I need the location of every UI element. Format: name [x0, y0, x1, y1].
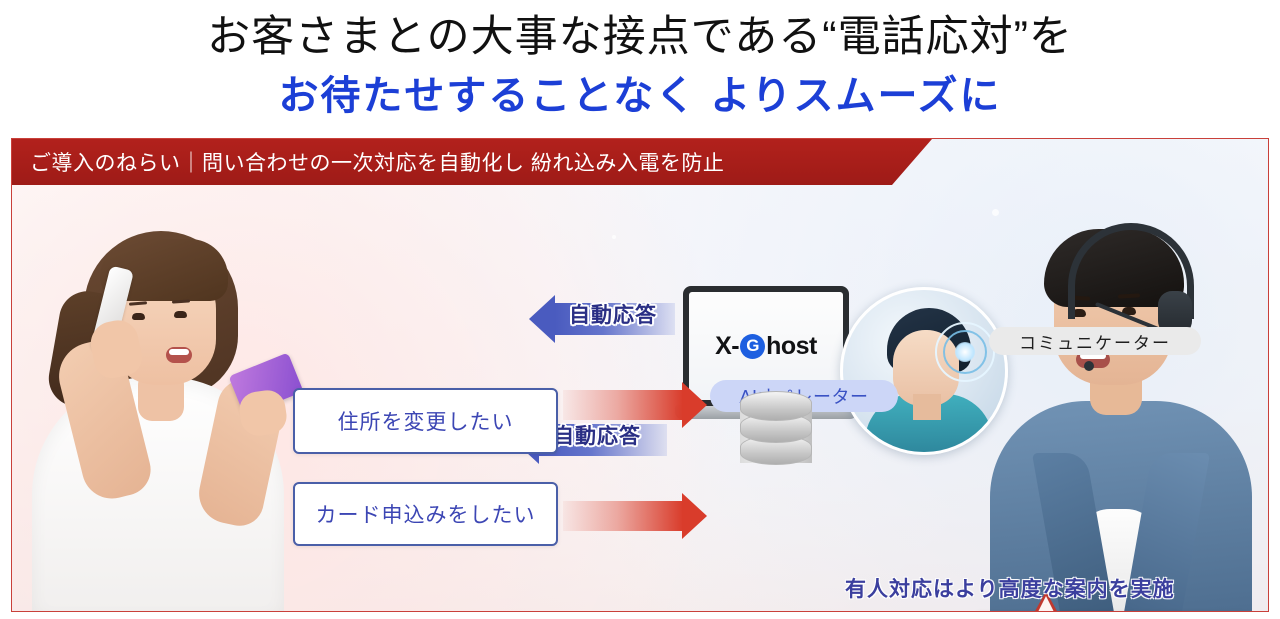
agent-reply-bubble: 家族プログラムの ご案内をいたしますね: [974, 611, 1248, 612]
eye: [174, 311, 187, 318]
sparkle-dot: [612, 235, 616, 239]
eye: [132, 313, 145, 320]
db-disc: [740, 391, 812, 421]
logo-suffix: host: [766, 332, 817, 361]
communicator-photo: [972, 195, 1262, 612]
mouth: [166, 347, 192, 363]
headline: お客さまとの大事な接点である“電話応対”を お待たせすることなく よりスムーズに: [0, 0, 1280, 124]
slide-canvas: お客さまとの大事な接点である“電話応対”を お待たせすることなく よりスムーズに…: [0, 0, 1280, 619]
logo-prefix: X-: [715, 332, 739, 361]
communicator-label: コミュニケーター: [989, 327, 1201, 355]
xghost-logo: X- G host: [715, 332, 817, 361]
customer-photo: [26, 195, 298, 612]
purpose-banner-text: ご導入のねらい｜問い合わせの一次対応を自動化し 紛れ込み入電を防止: [12, 147, 724, 177]
auto-response-label: 自動応答: [553, 420, 641, 450]
avatar-neck: [913, 394, 941, 420]
ghost-icon: G: [740, 334, 765, 359]
question-box-card-application: カード申込みをしたい: [293, 482, 558, 546]
auto-response-arrow-2: 自動応答: [539, 424, 667, 456]
purpose-banner: ご導入のねらい｜問い合わせの一次対応を自動化し 紛れ込み入電を防止: [12, 139, 932, 185]
request-arrow-2: [563, 501, 683, 531]
database-icon: [740, 391, 812, 479]
question-box-address-change: 住所を変更したい: [293, 388, 558, 454]
headset-mic: [1084, 361, 1094, 371]
headline-line-1: お客さまとの大事な接点である“電話応対”を: [0, 0, 1280, 68]
auto-response-arrow-1: 自動応答: [555, 303, 675, 335]
human-support-note: 有人対応はより高度な案内を実施: [845, 572, 1265, 604]
request-arrow-1: [563, 390, 683, 420]
headline-line-2: お待たせすることなく よりスムーズに: [0, 68, 1280, 124]
auto-response-label: 自動応答: [569, 299, 657, 329]
diagram-frame: ご導入のねらい｜問い合わせの一次対応を自動化し 紛れ込み入電を防止: [11, 138, 1269, 612]
